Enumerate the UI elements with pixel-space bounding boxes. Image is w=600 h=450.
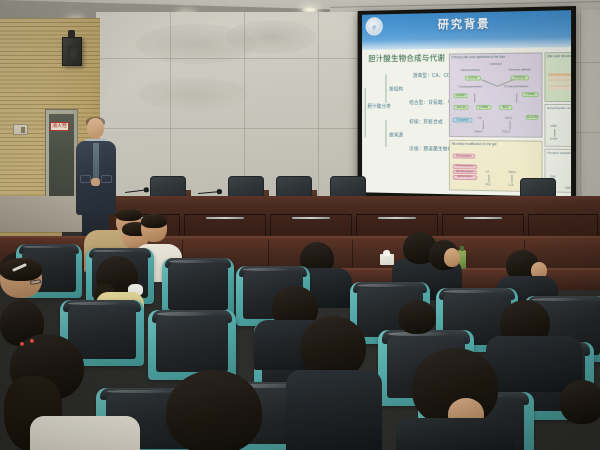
pathway-arrow: [481, 80, 497, 87]
structure-mini-table: [548, 73, 571, 89]
pathway-node: 7a-hydroxycholesterol: [458, 86, 482, 89]
wall-stain: [226, 20, 316, 54]
wall-grout: [318, 12, 319, 217]
pathway-arrow: [510, 121, 511, 130]
audience-head: [560, 380, 600, 424]
auditorium-seat[interactable]: [148, 310, 236, 380]
lecture-hall-photo: 消火栓 e 研究背景 胆汁酸生物合成与代谢 游离型：CA、CDCA 按结构 结合…: [0, 0, 600, 450]
audience-head: [300, 316, 366, 378]
jacket-pocket: [80, 175, 91, 183]
audience-torso: [396, 418, 514, 450]
pathway-arrow: [474, 94, 475, 104]
slide-panel-enterohepatic: Enterohepatic circulation ASBT BSEP NTCP…: [544, 104, 571, 147]
slide-panel-structure: Bile acid structure: [544, 52, 571, 102]
slide-body: 胆汁酸生物合成与代谢 游离型：CA、CDCA 按结构 结合型：甘氨酸、牛磺酸 胆…: [362, 47, 571, 196]
slide-outline-item: 初级：肝脏合成: [409, 119, 443, 126]
seat-highlight: [243, 268, 289, 271]
panel-caption: Bile acid structure: [547, 54, 571, 58]
slide-outline-item: 胆汁酸分类: [367, 103, 390, 110]
audience-hair: [141, 214, 167, 228]
microbial-arrow: [511, 175, 512, 183]
pathway-node: Classical pathway: [460, 69, 480, 72]
hair-tie-icon: [30, 339, 34, 343]
seat-back: [168, 263, 227, 309]
slide-brace: [385, 75, 386, 104]
panel-caption: Receptor signaling: [547, 151, 571, 155]
presidium-chair: [276, 176, 312, 198]
slide-brace: [385, 121, 386, 148]
panel-caption: Enterohepatic circulation: [547, 106, 571, 110]
tissue-box: [380, 254, 394, 265]
microbial-enzyme: Deconjugation: [453, 154, 476, 159]
audience-torso: [30, 416, 140, 450]
hair-tie-icon: [20, 342, 24, 346]
audience-hair: [0, 258, 42, 281]
slide-panel-pathway: Primary bile acid synthesis in the liver…: [449, 53, 543, 138]
pathway-enzyme: HSD3B7: [454, 94, 468, 99]
auditorium-seat[interactable]: [162, 258, 234, 316]
transporter-node: ASBT: [550, 125, 557, 128]
table-handle: [464, 217, 502, 219]
slide-outline-item: 按来源: [389, 132, 403, 139]
wall-switch-panel[interactable]: [13, 124, 28, 135]
seat-highlight: [157, 312, 212, 316]
pathway-enzyme: AKR1D1: [454, 105, 469, 110]
panel-caption: Primary bile acid synthesis in the liver: [452, 55, 506, 60]
pathway-enzyme: CYP7B1: [522, 92, 539, 97]
pathway-node: Alternative pathway: [509, 69, 531, 72]
pathway-enzyme: BAAT: [499, 105, 512, 110]
audience-head: [141, 214, 167, 242]
audience-head: [166, 370, 262, 450]
pathway-enzyme: CYP8B1: [476, 105, 491, 110]
table-panel: [528, 214, 598, 238]
wall-stain: [138, 78, 248, 110]
slide-outline-item: 按结构: [389, 86, 403, 93]
seat-highlight: [358, 284, 408, 287]
fire-hydrant-sign: 消火栓: [50, 122, 69, 131]
table-handle: [206, 217, 244, 219]
seat-back: [156, 316, 228, 372]
slide-surface: e 研究背景 胆汁酸生物合成与代谢 游离型：CA、CDCA 按结构 结合型：甘氨…: [362, 10, 571, 197]
microbial-enzyme: Dehydrogenation: [453, 165, 477, 170]
desk-seam: [352, 240, 353, 270]
transport-arrow: [554, 129, 555, 137]
transporter-node: NTCP: [550, 138, 557, 141]
microbial-node: CDCA: [509, 171, 516, 174]
receptor-node: VDR: [565, 187, 570, 190]
panel-caption: Microbial modification in the gut: [452, 142, 497, 146]
microbial-enzyme: Dehydroxylation: [453, 170, 477, 175]
standing-presenter: [72, 118, 120, 238]
pathway-arrow: [516, 94, 517, 104]
projection-screen: e 研究背景 胆汁酸生物合成与代谢 游离型：CA、CDCA 按结构 结合型：甘氨…: [358, 6, 576, 202]
wall-grout: [580, 10, 581, 225]
presidium-chair: [150, 176, 186, 198]
pathway-enzyme: SLC27A5: [526, 115, 539, 120]
slide-subtitle: 胆汁酸生物合成与代谢: [368, 53, 445, 64]
pathway-enzyme: CYP7A1: [465, 76, 481, 81]
pathway-enzyme: Conjugation: [453, 118, 473, 123]
pathway-node: Cholesterol: [489, 63, 502, 66]
audience-face: [444, 248, 460, 267]
microbial-node: CA: [486, 171, 489, 174]
seat-highlight: [169, 260, 214, 263]
wall-speaker-icon: [62, 37, 82, 66]
pathway-node: 27-hydroxycholesterol: [504, 86, 528, 89]
jacket-pocket: [101, 175, 112, 183]
audience-head: [398, 300, 436, 334]
microbial-enzyme: Epimerization: [453, 175, 477, 180]
pathway-arrow: [483, 121, 484, 130]
presidium-chair: [330, 176, 366, 198]
pathway-node: Taurine: [474, 131, 482, 134]
pathway-node: CDCA: [505, 117, 512, 120]
microbial-arrow: [489, 175, 490, 183]
table-handle: [378, 217, 416, 219]
pathway-node: CA: [478, 117, 481, 120]
table-handle: [292, 217, 330, 219]
presidium-chair: [228, 176, 264, 198]
pathway-node: TCDCA: [502, 131, 511, 134]
presenter-hand: [91, 178, 100, 186]
microbial-node: LCA: [509, 184, 514, 187]
slide-brace: [365, 88, 366, 137]
audience-torso: [286, 370, 382, 450]
microbial-node: DCA: [486, 184, 491, 187]
